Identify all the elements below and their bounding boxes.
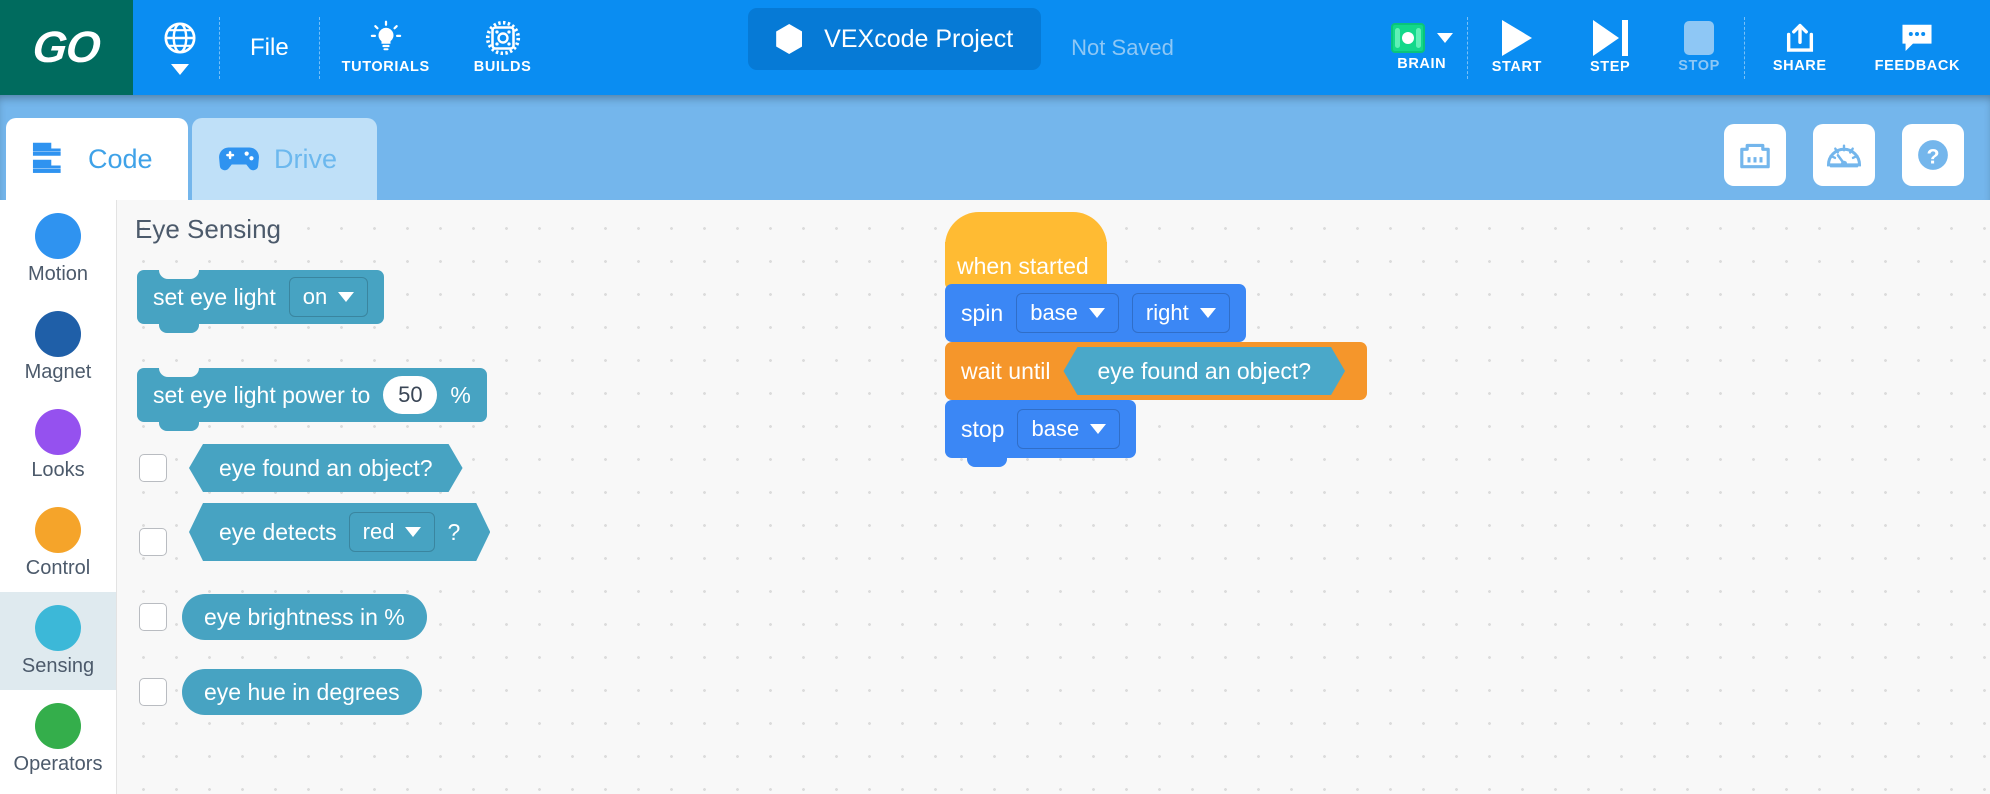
sidebar-item-sensing[interactable]: Sensing <box>0 592 116 690</box>
builds-button[interactable]: BUILDS <box>452 0 554 95</box>
sidebar-item-magnet[interactable]: Magnet <box>0 298 116 396</box>
project-hex-icon <box>776 24 802 54</box>
step-button[interactable]: STEP <box>1566 0 1654 95</box>
looks-color-dot <box>35 409 81 455</box>
app-logo[interactable]: GO <box>0 0 133 95</box>
spin-direction-dropdown[interactable]: right <box>1132 293 1230 333</box>
chevron-down-icon <box>1200 308 1216 318</box>
block-palette[interactable]: Eye Sensing set eye light on set eye lig… <box>117 200 937 794</box>
block-notch <box>159 368 199 377</box>
sensing-color-dot <box>35 605 81 651</box>
block-label: eye found an object? <box>219 455 433 482</box>
brain-icon <box>1391 23 1425 53</box>
stop-icon <box>1684 21 1714 55</box>
block-label: eye hue in degrees <box>204 679 400 706</box>
sidebar-item-label: Looks <box>31 459 84 482</box>
feedback-label: FEEDBACK <box>1875 58 1960 74</box>
monitor-checkbox-eye-brightness[interactable] <box>139 603 167 631</box>
gear-builds-icon <box>485 20 521 56</box>
chat-bubble-icon <box>1898 21 1936 55</box>
play-icon <box>1502 20 1532 56</box>
percent-label: % <box>450 382 470 409</box>
canvas-block-spin[interactable]: spin base right <box>945 284 1246 342</box>
question-mark-label: ? <box>447 519 460 546</box>
stop-label: STOP <box>1678 58 1720 74</box>
help-icon: ? <box>1914 136 1952 174</box>
start-label: START <box>1492 59 1542 75</box>
motion-color-dot <box>35 213 81 259</box>
control-color-dot <box>35 507 81 553</box>
tab-code[interactable]: Code <box>6 118 188 200</box>
sidebar-item-label: Control <box>26 557 90 580</box>
block-notch <box>159 270 199 279</box>
palette-block-eye-hue[interactable]: eye hue in degrees <box>182 669 422 715</box>
brain-label: BRAIN <box>1397 56 1446 72</box>
palette-block-eye-brightness[interactable]: eye brightness in % <box>182 594 427 640</box>
stop-button[interactable]: STOP <box>1654 0 1744 95</box>
top-toolbar: GO File TUTORIALS <box>0 0 1990 95</box>
chevron-down-icon <box>1089 308 1105 318</box>
sidebar-item-operators[interactable]: Operators <box>0 690 116 788</box>
palette-block-set-eye-light[interactable]: set eye light on <box>137 270 384 324</box>
monitor-gauge-button[interactable] <box>1813 124 1875 186</box>
monitor-checkbox-eye-hue[interactable] <box>139 678 167 706</box>
palette-block-set-eye-light-power[interactable]: set eye light power to 50 % <box>137 368 487 422</box>
code-blocks-icon <box>30 138 76 180</box>
canvas-block-wait-until[interactable]: wait until eye found an object? <box>945 342 1367 400</box>
tab-bar: Code Drive <box>0 95 1990 200</box>
palette-block-eye-detects[interactable]: eye detects red ? <box>189 503 490 561</box>
share-button[interactable]: SHARE <box>1745 0 1851 95</box>
gamepad-icon <box>216 138 262 180</box>
block-label: eye detects <box>219 519 337 546</box>
tutorials-button[interactable]: TUTORIALS <box>320 0 452 95</box>
tab-drive-label: Drive <box>274 144 337 175</box>
tutorials-label: TUTORIALS <box>342 59 430 75</box>
category-sidebar: Motion Magnet Looks Control Sensing Oper… <box>0 200 117 794</box>
share-icon <box>1782 21 1818 55</box>
sidebar-item-label: Sensing <box>22 655 94 678</box>
svg-text:?: ? <box>1926 144 1939 168</box>
tab-code-label: Code <box>88 144 153 175</box>
block-notch <box>159 421 199 431</box>
chevron-down-icon <box>405 527 421 537</box>
palette-section-header: Eye Sensing <box>135 214 281 245</box>
sidebar-item-looks[interactable]: Looks <box>0 396 116 494</box>
chevron-down-icon <box>1090 424 1106 434</box>
block-notch <box>967 457 1007 467</box>
eye-light-state-dropdown[interactable]: on <box>289 277 368 317</box>
feedback-button[interactable]: FEEDBACK <box>1851 0 1990 95</box>
brain-dot <box>1402 32 1414 44</box>
help-button[interactable]: ? <box>1902 124 1964 186</box>
monitor-checkbox-eye-found-object[interactable] <box>139 454 167 482</box>
block-label: stop <box>961 416 1004 443</box>
canvas-block-stop[interactable]: stop base <box>945 400 1136 458</box>
step-icon <box>1593 20 1628 56</box>
save-status: Not Saved <box>1071 35 1174 61</box>
palette-block-eye-found-object[interactable]: eye found an object? <box>189 444 463 492</box>
eye-light-power-input[interactable]: 50 <box>383 376 437 414</box>
block-label: eye found an object? <box>1097 358 1311 385</box>
file-menu-label: File <box>250 34 289 62</box>
hat-cap <box>945 212 1107 246</box>
dashboard-button[interactable] <box>1724 124 1786 186</box>
dropdown-value: base <box>1031 416 1079 442</box>
language-selector[interactable] <box>133 0 219 95</box>
file-menu[interactable]: File <box>220 0 319 95</box>
sidebar-item-label: Motion <box>28 263 88 286</box>
stop-device-dropdown[interactable]: base <box>1017 409 1120 449</box>
block-label: set eye light power to <box>153 382 370 409</box>
dashboard-icon <box>1737 137 1773 173</box>
script-canvas[interactable]: when started spin base right wait until … <box>937 200 1990 794</box>
project-name-button[interactable]: VEXcode Project <box>748 8 1041 70</box>
monitor-checkbox-eye-detects[interactable] <box>139 528 167 556</box>
dropdown-value: right <box>1146 300 1189 326</box>
sidebar-item-control[interactable]: Control <box>0 494 116 592</box>
magnet-color-dot <box>35 311 81 357</box>
canvas-block-eye-found-object[interactable]: eye found an object? <box>1063 347 1345 395</box>
canvas-block-when-started[interactable]: when started <box>945 212 1107 290</box>
sidebar-item-label: Magnet <box>25 361 92 384</box>
globe-icon <box>163 21 197 55</box>
project-name-label: VEXcode Project <box>824 25 1013 54</box>
workspace: Motion Magnet Looks Control Sensing Oper… <box>0 200 1990 794</box>
block-label: when started <box>957 253 1089 280</box>
operators-color-dot <box>35 703 81 749</box>
eye-detects-color-dropdown[interactable]: red <box>349 512 436 552</box>
logo-text: GO <box>31 23 103 73</box>
block-label: wait until <box>961 358 1050 385</box>
workspace-tool-icons: ? <box>1724 124 1964 186</box>
sidebar-item-motion[interactable]: Motion <box>0 200 116 298</box>
chevron-down-icon <box>171 64 189 75</box>
block-label: spin <box>961 300 1003 327</box>
builds-label: BUILDS <box>474 59 532 75</box>
gauge-icon <box>1825 137 1863 173</box>
spin-device-dropdown[interactable]: base <box>1016 293 1119 333</box>
start-button[interactable]: START <box>1468 0 1566 95</box>
chevron-down-icon <box>338 292 354 302</box>
tab-drive[interactable]: Drive <box>192 118 377 200</box>
block-label: eye brightness in % <box>204 604 405 631</box>
block-label: set eye light <box>153 284 276 311</box>
share-label: SHARE <box>1773 58 1827 74</box>
hat-body: when started <box>945 242 1107 290</box>
brain-button[interactable]: BRAIN <box>1369 0 1467 95</box>
sidebar-item-label: Operators <box>14 753 103 776</box>
dropdown-value: base <box>1030 300 1078 326</box>
chevron-down-icon[interactable] <box>1437 33 1453 43</box>
dropdown-value: red <box>363 519 395 545</box>
block-notch <box>159 323 199 333</box>
step-label: STEP <box>1590 59 1630 75</box>
toolbar-spacer <box>1174 0 1369 95</box>
dropdown-value: on <box>303 284 327 310</box>
lightbulb-icon <box>368 20 404 56</box>
toolbar-spacer <box>553 0 748 95</box>
